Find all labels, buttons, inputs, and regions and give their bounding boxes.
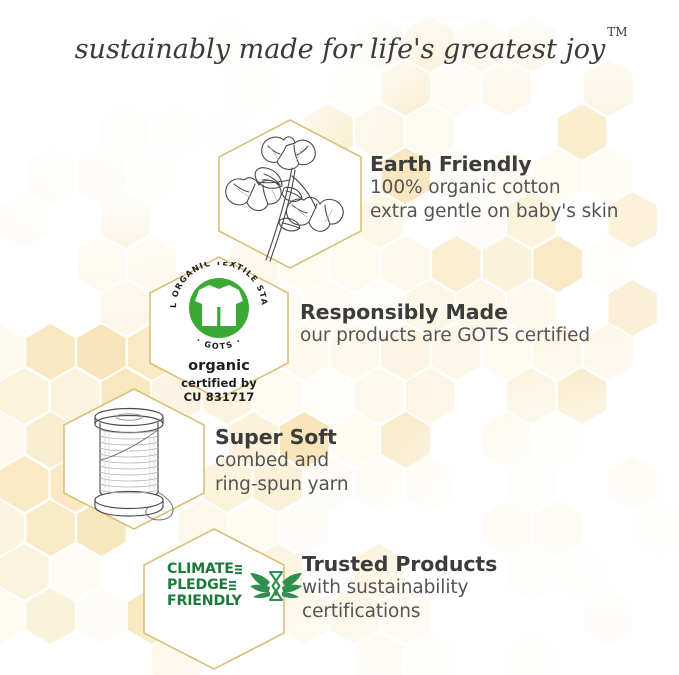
feature-copy-super-soft: Super Soft combed and ring-spun yarn bbox=[215, 425, 349, 497]
feature-line: certifications bbox=[302, 600, 497, 624]
climate-pledge-wordmark: CLIMATE PLEDGE FRIENDLY bbox=[167, 562, 242, 610]
gots-seal-graphic: GLOBAL ORGANIC TEXTILE STANDARD · GOTS · bbox=[149, 262, 289, 350]
feature-heading: Super Soft bbox=[215, 425, 349, 449]
thread-spool-sketch-icon bbox=[72, 398, 200, 524]
gots-certified-by: certified by bbox=[149, 376, 289, 390]
cpf-bar-icon bbox=[235, 564, 242, 575]
headline-trademark: TM bbox=[607, 25, 627, 39]
cpf-line-2: PLEDGE bbox=[167, 578, 228, 594]
feature-line: combed and bbox=[215, 449, 349, 473]
feature-heading: Trusted Products bbox=[302, 552, 497, 576]
gots-organic-seal-icon: GLOBAL ORGANIC TEXTILE STANDARD · GOTS ·… bbox=[149, 262, 289, 404]
winged-hourglass-icon bbox=[249, 563, 303, 609]
feature-line: extra gentle on baby's skin bbox=[370, 200, 618, 224]
page-title: sustainably made for life's greatest joy… bbox=[0, 20, 679, 72]
feature-heading: Earth Friendly bbox=[370, 152, 618, 176]
promo-graphic: sustainably made for life's greatest joy… bbox=[0, 0, 679, 675]
feature-line: with sustainability bbox=[302, 576, 497, 600]
feature-copy-responsibly-made: Responsibly Made our products are GOTS c… bbox=[300, 300, 590, 348]
cpf-bar-icon bbox=[229, 580, 236, 591]
feature-copy-trusted-products: Trusted Products with sustainability cer… bbox=[302, 552, 497, 624]
feature-line: ring-spun yarn bbox=[215, 473, 349, 497]
feature-copy-earth-friendly: Earth Friendly 100% organic cotton extra… bbox=[370, 152, 618, 224]
gots-certificate-number: CU 831717 bbox=[149, 390, 289, 404]
cpf-line-3: FRIENDLY bbox=[167, 594, 242, 610]
cotton-boll-sketch-icon bbox=[222, 124, 360, 266]
feature-heading: Responsibly Made bbox=[300, 300, 590, 324]
gots-organic-label: organic bbox=[149, 358, 289, 374]
feature-line: our products are GOTS certified bbox=[300, 324, 590, 348]
climate-pledge-friendly-icon: CLIMATE PLEDGE FRIENDLY bbox=[167, 562, 303, 610]
headline-script-text: sustainably made for life's greatest joy bbox=[74, 34, 605, 65]
feature-line: 100% organic cotton bbox=[370, 176, 618, 200]
cpf-line-1: CLIMATE bbox=[167, 562, 234, 578]
